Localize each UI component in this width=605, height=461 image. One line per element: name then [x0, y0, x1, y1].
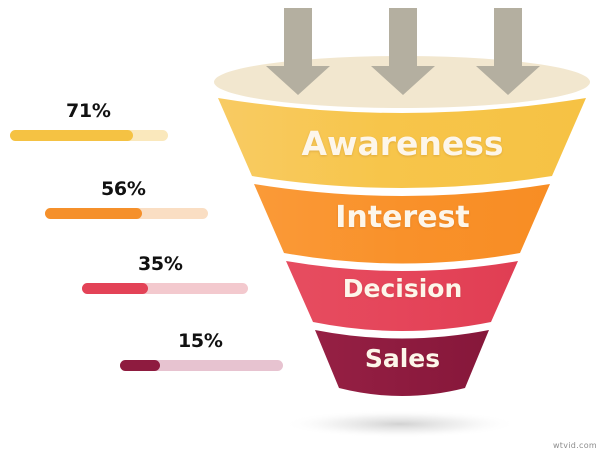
- funnel-label-sales: Sales: [200, 344, 605, 373]
- funnel-label-interest: Interest: [200, 200, 605, 235]
- progress-value-awareness: 71%: [66, 100, 111, 122]
- progress-fill-awareness: [10, 130, 133, 141]
- progress-value-interest: 56%: [101, 178, 146, 200]
- progress-track-awareness: [10, 130, 168, 141]
- funnel-label-awareness: Awareness: [200, 124, 605, 163]
- progress-fill-interest: [45, 208, 142, 219]
- progress-fill-sales: [120, 360, 160, 371]
- progress-fill-decision: [82, 283, 148, 294]
- watermark-text: wtvid.com: [553, 441, 597, 450]
- funnel-graphic: Awareness Interest Decision Sales: [200, 0, 605, 457]
- funnel-label-decision: Decision: [200, 274, 605, 303]
- funnel-infographic: 71% 56% 35% 15%: [0, 0, 605, 457]
- funnel-shadow: [282, 410, 518, 438]
- progress-value-decision: 35%: [138, 253, 183, 275]
- progress-track-interest: [45, 208, 208, 219]
- progress-bar-row-awareness: 71%: [0, 100, 200, 155]
